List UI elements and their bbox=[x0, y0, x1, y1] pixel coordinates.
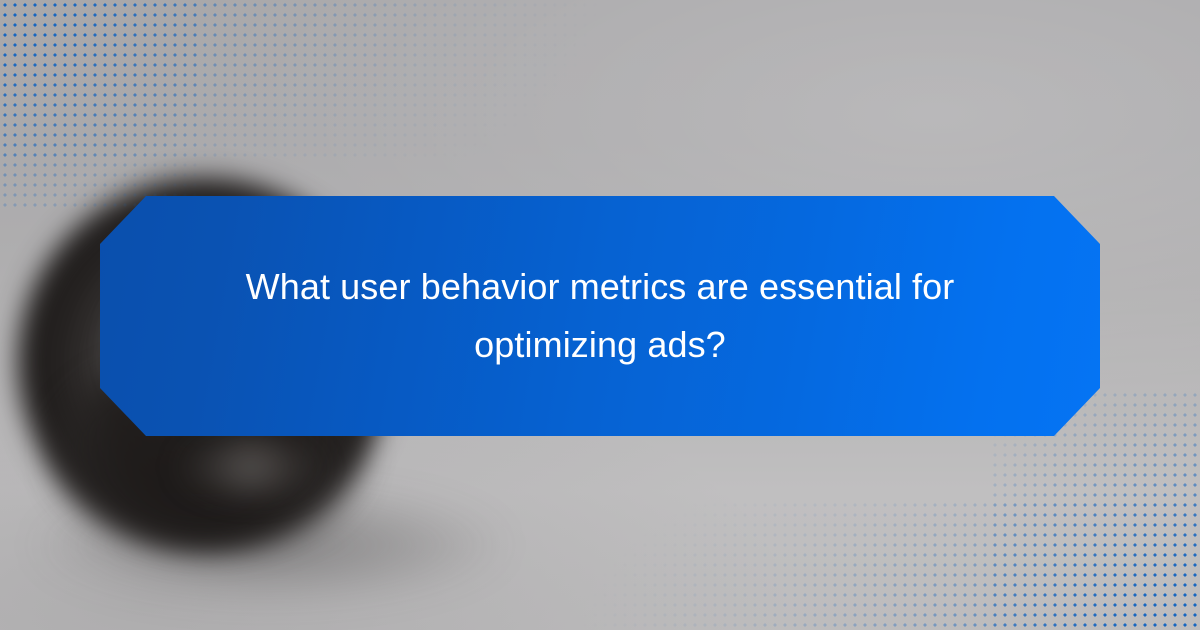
headline-text: What user behavior metrics are essential… bbox=[185, 258, 1015, 375]
share-card-canvas: What user behavior metrics are essential… bbox=[0, 0, 1200, 630]
headline-banner: What user behavior metrics are essential… bbox=[100, 196, 1100, 436]
blurred-ring-object-highlight bbox=[176, 440, 326, 494]
